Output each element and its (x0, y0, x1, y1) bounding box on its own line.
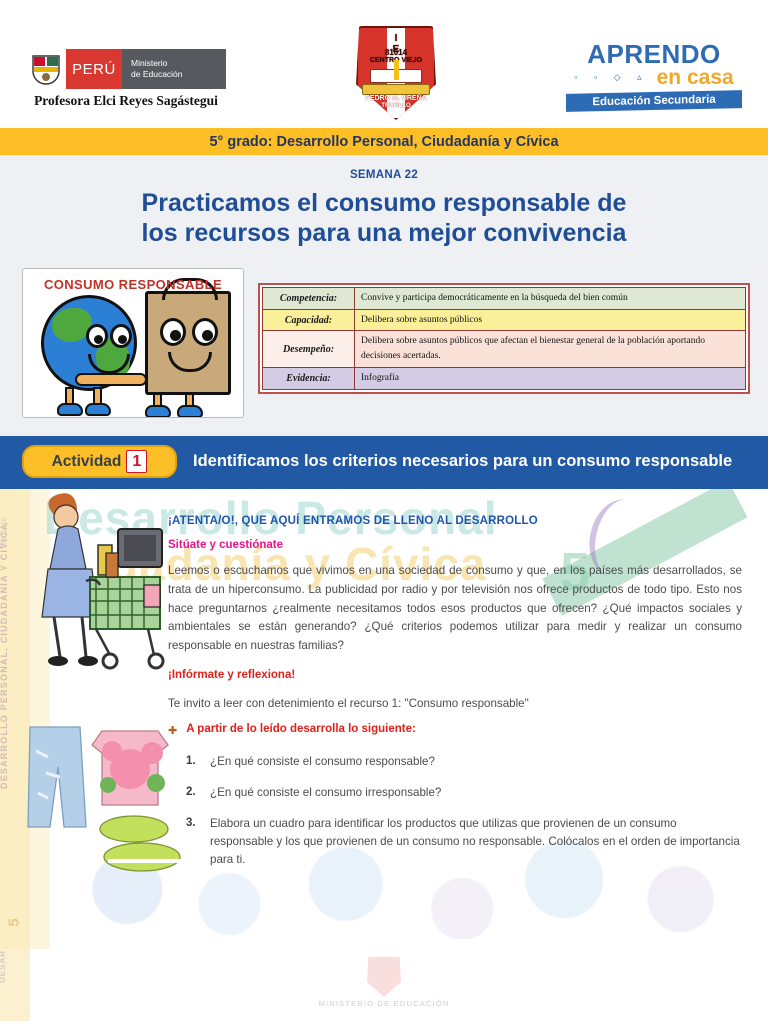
body-content: ¡ATENTA/O!, QUE AQUÍ ENTRAMOS DE LLENO A… (0, 489, 768, 869)
activity-badge: Actividad 1 (22, 445, 177, 478)
aprendo-en-casa-logo: APRENDO ▫ ▫ ◇ ▵ en casa Educación Secund… (566, 41, 742, 110)
table-row: Competencia: Convive y participa democrá… (263, 288, 746, 310)
page-number: 5 (6, 918, 23, 926)
aprendo-level-banner: Educación Secundaria (566, 90, 742, 112)
illustration-caption: CONSUMO RESPONSABLE (23, 277, 243, 292)
paper-bag-character-icon (145, 291, 231, 395)
row-label: Capacidad: (263, 309, 355, 331)
document-footer: DESAR MINISTERIO DE EDUCACIÓN (0, 949, 768, 1021)
situate-heading: Sitúate y cuestiónate (168, 539, 742, 551)
row-value: Delibera sobre asuntos públicos (355, 309, 746, 331)
page-title: Practicamos el consumo responsable de lo… (0, 189, 768, 248)
ministry-line-2: de Educación (131, 69, 226, 80)
develop-instruction-row: ✚ A partir de lo leído desarrolla lo sig… (168, 723, 742, 740)
row-label: Competencia: (263, 288, 355, 310)
activity-badge-number: 1 (126, 450, 147, 473)
title-section: SEMANA 22 Practicamos el consumo respons… (0, 155, 768, 260)
list-item: ¿En qué consiste el consumo irresponsabl… (186, 784, 742, 802)
competence-table: Competencia: Convive y participa democrá… (262, 287, 746, 390)
crest-code: 81014 (356, 48, 436, 57)
row-label: Evidencia: (263, 367, 355, 389)
row-value: Convive y participa democráticamente en … (355, 288, 746, 310)
school-crest-icon: I E 81014 CENTRO VIEJO PEDRO M. UREÑA TR… (356, 26, 436, 120)
body-section: Desarrollo Personal dadanía y Cívica 5 D… (0, 489, 768, 949)
ministry-line-1: Ministerio (131, 58, 226, 69)
consumo-responsable-illustration: CONSUMO RESPONSABLE (22, 268, 244, 418)
aprendo-encasa-word: en casa (657, 67, 734, 88)
intro-paragraph: Leemos o escuchamos que vivimos en una s… (168, 562, 742, 656)
crest-school-name: PEDRO M. UREÑA (356, 95, 436, 102)
page-title-line-1: Practicamos el consumo responsable de (40, 189, 728, 219)
document-page: PERÚ Ministerio de Educación Profesora E… (0, 0, 768, 1024)
row-value: Delibera sobre asuntos públicos que afec… (355, 331, 746, 367)
aprendo-dots-icon: ▫ ▫ ◇ ▵ (574, 72, 648, 83)
inform-heading: ¡Infórmate y reflexiona! (168, 669, 742, 681)
crest-city: TRUJILLO (356, 103, 436, 109)
minedu-logo: PERÚ Ministerio de Educación (26, 49, 226, 89)
grade-bar-text: 5° grado: Desarrollo Personal, Ciudadaní… (209, 134, 558, 150)
questions-list: ¿En qué consiste el consumo responsable?… (186, 753, 742, 869)
info-row: CONSUMO RESPONSABLE (0, 260, 768, 436)
row-value: Infografía (355, 367, 746, 389)
table-row: Capacidad: Delibera sobre asuntos públic… (263, 309, 746, 331)
ministry-label: Ministerio de Educación (122, 49, 226, 89)
peru-label: PERÚ (66, 49, 122, 89)
earth-arm (75, 373, 147, 386)
ministry-crest-watermark-icon (367, 957, 401, 997)
ministry-watermark-text: MINISTERIO DE EDUCACIÓN (319, 999, 450, 1008)
aprendo-word: APRENDO (566, 41, 742, 67)
table-row: Evidencia: Infografía (263, 367, 746, 389)
activity-badge-label: Actividad (52, 453, 122, 471)
teacher-name: Profesora Elci Reyes Sagástegui (34, 93, 218, 109)
list-item: Elabora un cuadro para identificar los p… (186, 815, 742, 869)
document-header: PERÚ Ministerio de Educación Profesora E… (0, 0, 768, 128)
table-row: Desempeño: Delibera sobre asuntos públic… (263, 331, 746, 367)
week-label: SEMANA 22 (0, 169, 768, 181)
activity-title: Identificamos los criterios necesarios p… (193, 451, 732, 471)
grade-bar: 5° grado: Desarrollo Personal, Ciudadaní… (0, 128, 768, 155)
footer-side-label: DESAR (0, 950, 7, 983)
activity-banner: Actividad 1 Identificamos los criterios … (0, 436, 768, 489)
attention-heading: ¡ATENTA/O!, QUE AQUÍ ENTRAMOS DE LLENO A… (168, 515, 742, 527)
row-label: Desempeño: (263, 331, 355, 367)
develop-instruction: A partir de lo leído desarrolla lo sigui… (186, 723, 416, 735)
bullet-marker-icon: ✚ (168, 723, 177, 740)
list-item: ¿En qué consiste el consumo responsable? (186, 753, 742, 771)
peru-coat-of-arms-icon (26, 49, 66, 89)
minedu-logo-block: PERÚ Ministerio de Educación Profesora E… (26, 49, 226, 109)
resource-line: Te invito a leer con detenimiento el rec… (168, 697, 742, 710)
competence-table-wrapper: Competencia: Convive y participa democrá… (258, 283, 750, 394)
page-title-line-2: los recursos para una mejor convivencia (40, 219, 728, 249)
